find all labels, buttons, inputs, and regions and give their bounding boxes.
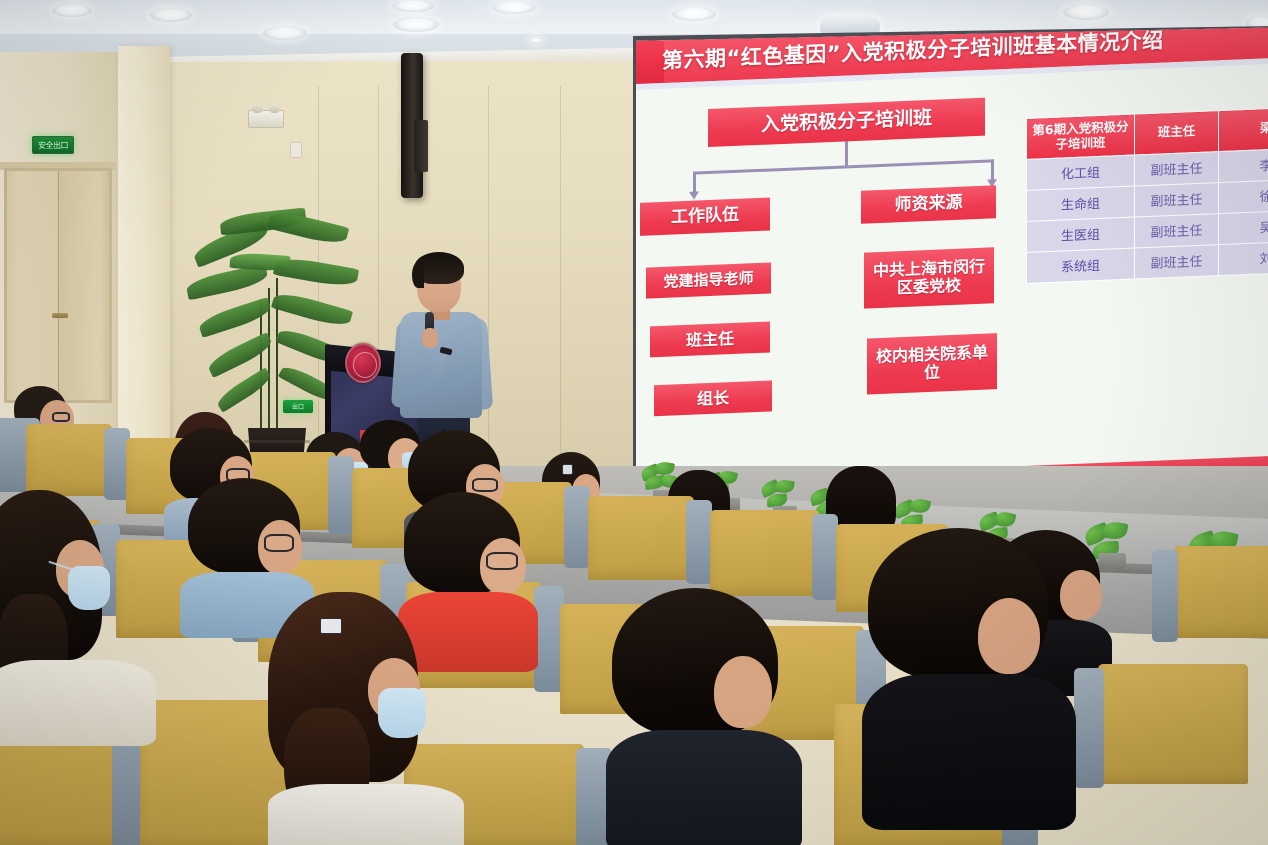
attendee-body — [606, 730, 802, 845]
face-mask-icon — [378, 688, 426, 738]
attendee-head — [978, 598, 1040, 674]
attendee-body — [268, 784, 464, 845]
lecture-hall-photo: 安全出口 第六期“红色基因”入党积极分子培训班基本情况介绍 入党 — [0, 0, 1268, 845]
attendee-head — [714, 656, 772, 728]
eyeglasses-icon — [486, 552, 518, 570]
eyeglasses-icon — [264, 534, 294, 552]
attendee-body — [0, 660, 156, 746]
attendee — [0, 490, 156, 730]
attendee — [264, 592, 454, 845]
hair-clip-icon — [320, 618, 342, 634]
attendee-body — [862, 674, 1076, 830]
attendee — [862, 528, 1082, 828]
attendee — [606, 588, 806, 845]
face-mask-icon — [68, 566, 110, 610]
